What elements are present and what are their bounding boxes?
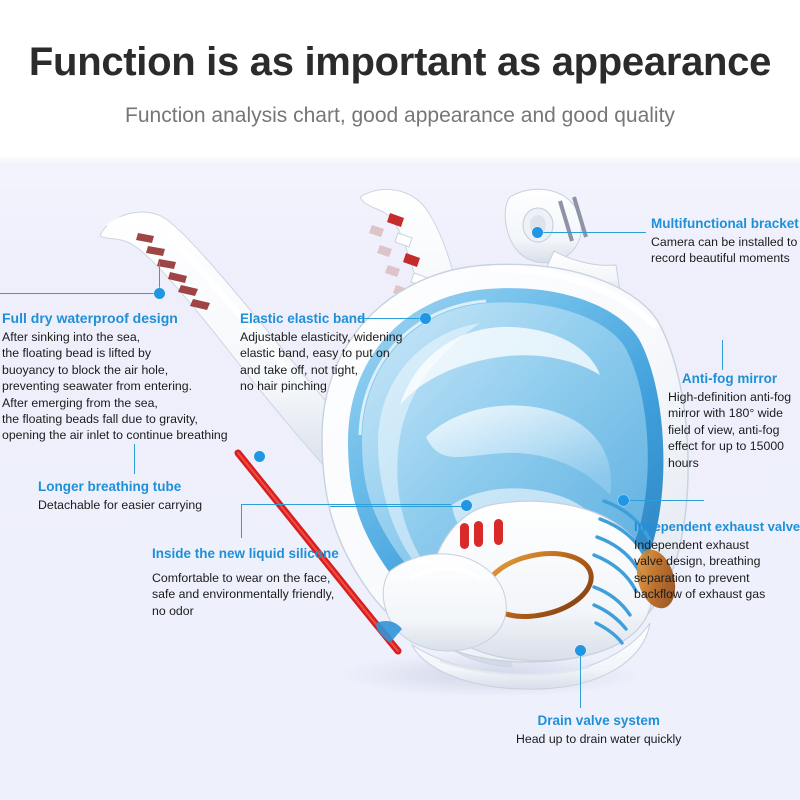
callout-line: elastic band, easy to put on [240,345,402,361]
leader-line-bracket [542,232,646,233]
callout-line: backflow of exhaust gas [634,586,800,602]
callout-line: safe and environmentally friendly, [152,586,339,602]
callout-line: Adjustable elasticity, widening [240,329,402,345]
callout-line: Detachable for easier carrying [38,497,202,513]
callout-line: the floating bead is lifted by [2,345,228,361]
callout-line: no hair pinching [240,378,402,394]
callout-elastic-elastic-band: Elastic elastic band Adjustable elastici… [240,310,402,395]
callout-line: After sinking into the sea, [2,329,228,345]
hotspot-exhaust-valve[interactable] [618,495,629,506]
callout-line: buoyancy to block the air hole, [2,362,228,378]
callout-line: hours [668,455,791,471]
header-band: Function is as important as appearance F… [0,0,800,158]
leader-line-exhaust [626,500,704,501]
callout-heading: Inside the new liquid silicone [152,545,339,562]
callout-anti-fog-mirror: Anti-fog mirror High-definition anti-fog… [668,370,791,471]
hotspot-drain-valve[interactable] [575,645,586,656]
hotspot-bracket[interactable] [532,227,543,238]
callout-line: Comfortable to wear on the face, [152,570,339,586]
callout-drain-valve-system: Drain valve system Head up to drain wate… [516,712,681,747]
leader-line-antifog-h [330,506,462,507]
callout-line: High-definition anti-fog [668,389,791,405]
callout-full-dry-waterproof-design: Full dry waterproof design After sinking… [2,310,228,444]
callout-heading: Multifunctional bracket [651,215,799,232]
intake-valve-slots [460,519,503,549]
callout-line: mirror with 180° wide [668,405,791,421]
callout-line: and take off, not tight, [240,362,402,378]
callout-longer-breathing-tube: Longer breathing tube Detachable for eas… [38,478,202,513]
callout-line: effect for up to 15000 [668,438,791,454]
callout-line: Camera can be installed to [651,234,799,250]
callout-line: valve design, breathing [634,553,800,569]
callout-line: Independent exhaust [634,537,800,553]
callout-independent-exhaust-valve: Independent exhaust valve Independent ex… [634,518,800,603]
leader-line-silicone-down [241,504,242,538]
callout-body: Head up to drain water quickly [516,731,681,747]
callout-body: Comfortable to wear on the face, safe an… [152,570,339,619]
callout-line: Head up to drain water quickly [516,731,681,747]
callout-heading: Drain valve system [516,712,681,729]
callout-multifunctional-bracket: Multifunctional bracket Camera can be in… [651,215,799,267]
callout-heading: Independent exhaust valve [634,518,800,535]
hotspot-antifog[interactable] [461,500,472,511]
callout-heading: Anti-fog mirror [668,370,791,387]
leader-line-antifog [722,340,723,370]
leader-line-drain [580,650,581,708]
callout-heading: Longer breathing tube [38,478,202,495]
infographic-page: Function is as important as appearance F… [0,0,800,800]
callout-line: After emerging from the sea, [2,395,228,411]
leader-line-full-dry [0,293,160,294]
callout-heading: Elastic elastic band [240,310,402,327]
callout-inside-the-new-liquid-silicone: Inside the new liquid silicone Comfortab… [152,545,339,619]
callout-line: no odor [152,603,339,619]
leader-line-longer-tube [134,444,135,474]
callout-body: After sinking into the sea, the floating… [2,329,228,444]
page-title: Function is as important as appearance [0,40,800,85]
callout-line: field of view, anti-fog [668,422,791,438]
callout-line: preventing seawater from entering. [2,378,228,394]
hotspot-full-dry[interactable] [154,288,165,299]
callout-heading: Full dry waterproof design [2,310,228,327]
callout-line: opening the air inlet to continue breath… [2,427,228,443]
page-subtitle: Function analysis chart, good appearance… [0,104,800,128]
callout-body: Detachable for easier carrying [38,497,202,513]
callout-body: High-definition anti-fog mirror with 180… [668,389,791,471]
callout-line: separation to prevent [634,570,800,586]
hotspot-elastic-band[interactable] [420,313,431,324]
callout-line: the floating beads fall due to gravity, [2,411,228,427]
callout-body: Adjustable elasticity, widening elastic … [240,329,402,395]
callout-body: Camera can be installed to record beauti… [651,234,799,267]
callout-body: Independent exhaust valve design, breath… [634,537,800,603]
callout-line: record beautiful moments [651,250,799,266]
hotspot-silicone[interactable] [254,451,265,462]
